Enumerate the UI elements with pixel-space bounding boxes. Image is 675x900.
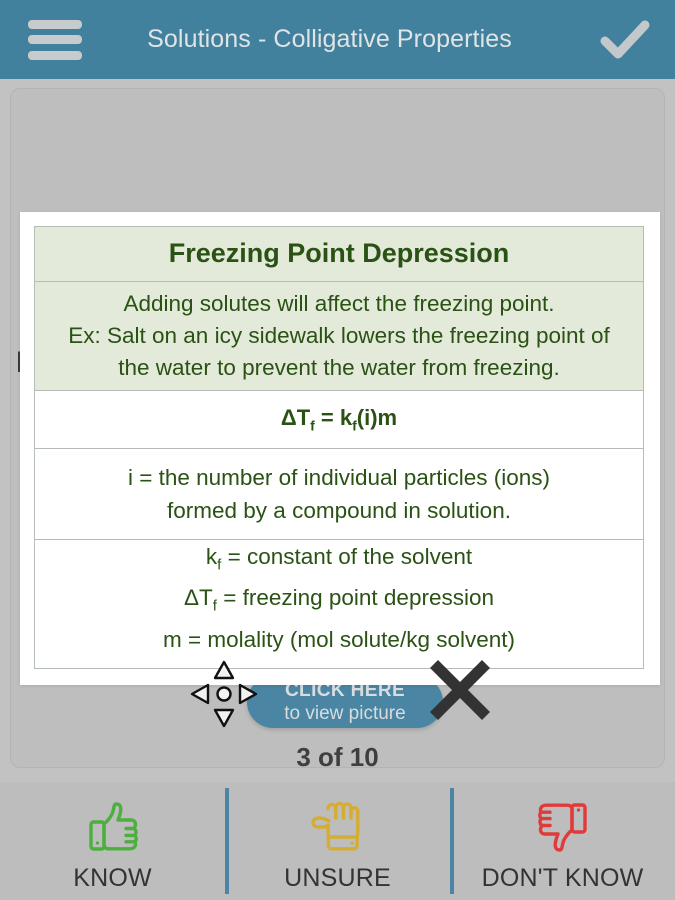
checkmark-icon[interactable] [587,10,663,70]
variable-2-symbol: ΔT [184,585,213,610]
answer-action-bar: KNOW UNSURE [0,782,675,900]
flashcard-app-screen: Solutions - Colligative Properties F CLI… [0,0,675,900]
dont-know-label: DON'T KNOW [482,864,644,893]
table-row-variables: kf = constant of the solvent ΔTf = freez… [35,540,643,669]
concept-table: Freezing Point Depression Adding solutes… [34,226,644,669]
card-counter: 3 of 10 [0,742,675,773]
variable-line-1: kf = constant of the solvent [206,540,472,582]
table-row-definition: i = the number of individual particles (… [35,449,643,539]
description-line-1: Adding solutes will affect the freezing … [123,288,554,320]
app-header-bar: Solutions - Colligative Properties [0,0,675,79]
unsure-button[interactable]: UNSURE [225,782,450,900]
view-picture-line2: to view picture [284,702,405,725]
table-row-title: Freezing Point Depression [35,227,643,282]
definition-line-2: formed by a compound in solution. [167,494,511,527]
formula-delta-t: ΔT [281,405,310,430]
variable-1-symbol: k [206,544,217,569]
formula-equals-k: = k [315,405,352,430]
variable-2-text: = freezing point depression [217,585,494,610]
know-button[interactable]: KNOW [0,782,225,900]
variable-line-2: ΔTf = freezing point depression [184,581,494,623]
page-title: Solutions - Colligative Properties [72,25,587,54]
know-label: KNOW [73,864,152,893]
formula-tail: (i)m [357,405,397,430]
variable-1-text: = constant of the solvent [221,544,472,569]
table-row-description: Adding solutes will affect the freezing … [35,282,643,391]
flat-hand-icon [307,796,369,858]
dont-know-button[interactable]: DON'T KNOW [450,782,675,900]
description-line-2: Ex: Salt on an icy sidewalk lowers the f… [68,320,610,352]
concept-title: Freezing Point Depression [169,238,510,269]
close-x-icon[interactable] [422,652,498,728]
picture-overlay-card[interactable]: Freezing Point Depression Adding solutes… [20,212,660,685]
unsure-label: UNSURE [284,864,391,893]
definition-line-1: i = the number of individual particles (… [128,461,550,494]
move-handle-icon[interactable] [186,656,262,732]
thumbs-up-icon [82,796,144,858]
variable-3-symbol: m [163,627,182,652]
thumbs-down-icon [532,796,594,858]
formula-expression: ΔTf = kf(i)m [281,405,397,433]
description-line-3: the water to prevent the water from free… [118,352,559,384]
variable-3-text: = molality (mol solute/kg solvent) [182,627,515,652]
table-row-formula: ΔTf = kf(i)m [35,391,643,449]
